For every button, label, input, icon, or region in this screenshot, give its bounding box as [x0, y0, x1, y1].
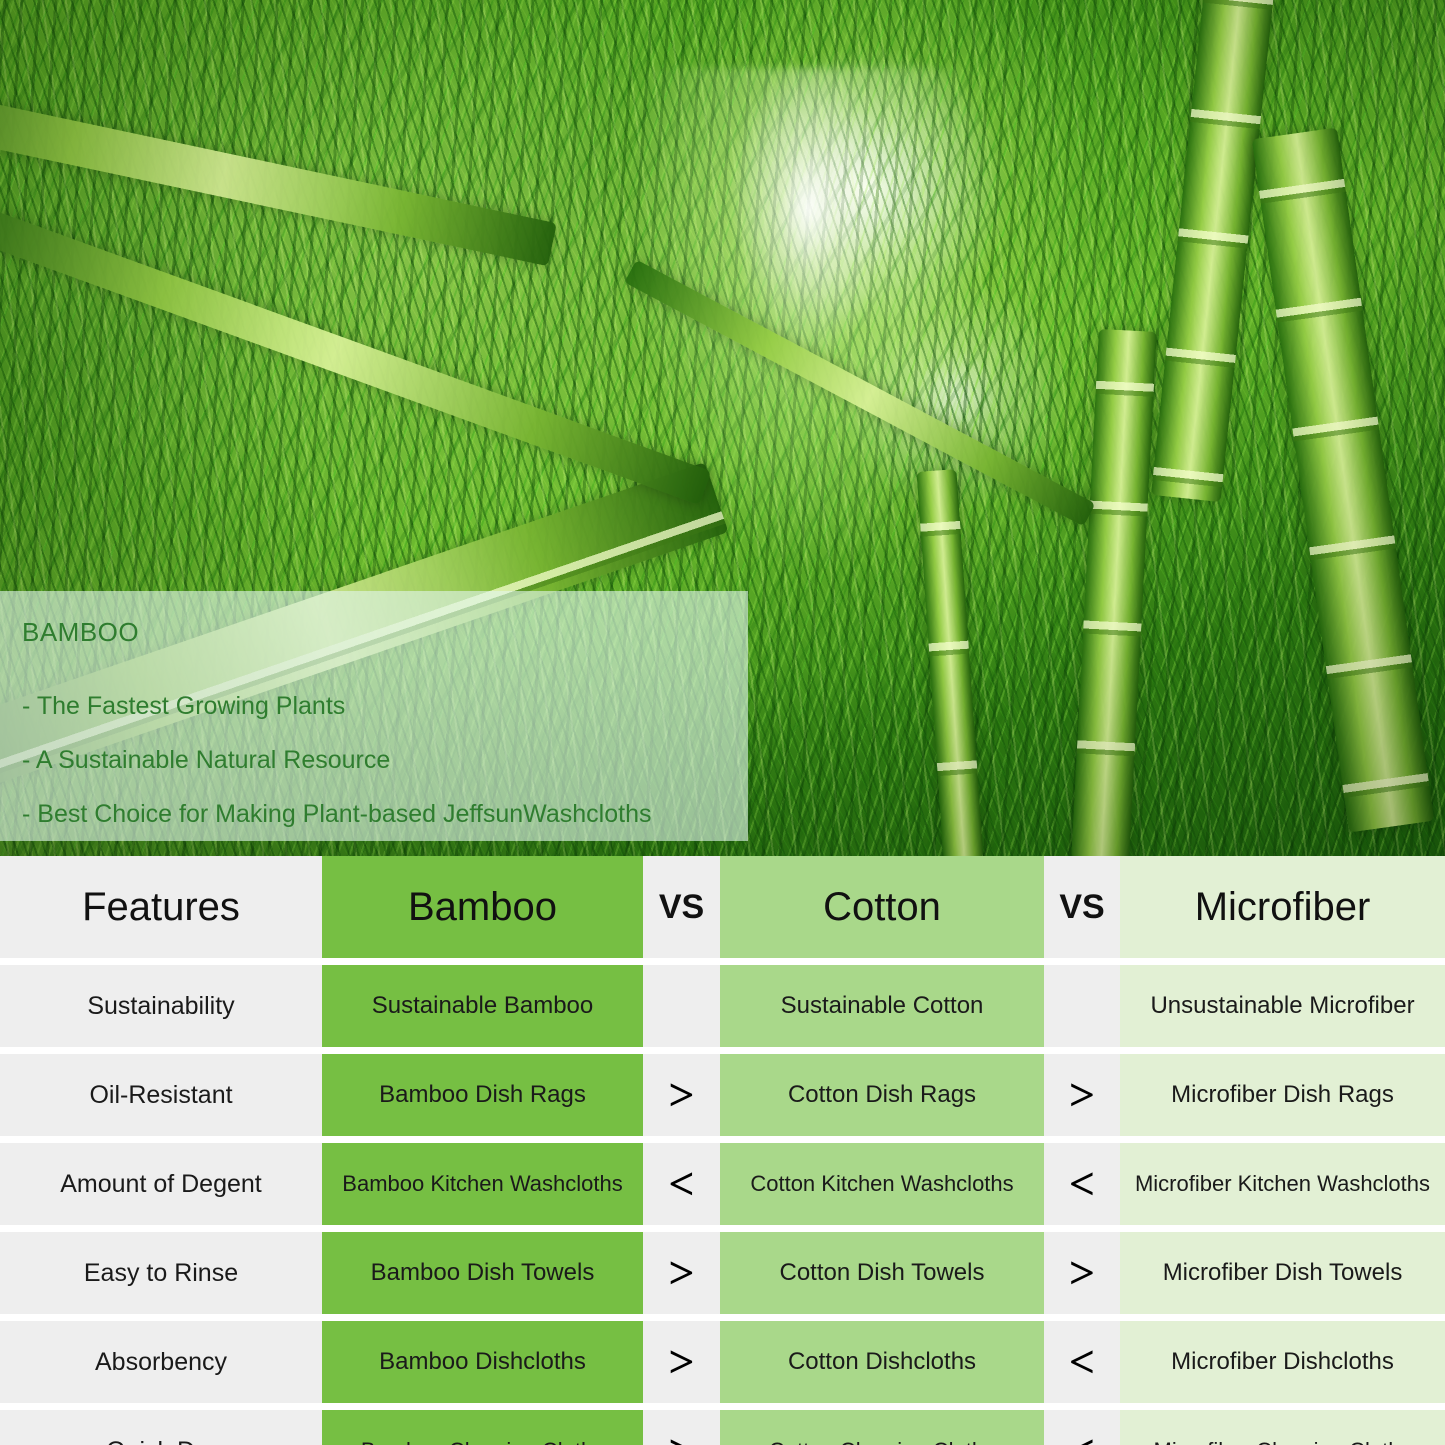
bamboo-callout-title: BAMBOO	[22, 617, 748, 648]
cell-cotton: Cotton Kitchen Washcloths	[720, 1143, 1044, 1225]
cell-bamboo: Bamboo Dish Rags	[322, 1054, 643, 1136]
row-label: Oil-Resistant	[0, 1054, 322, 1136]
header-cell-microfiber: Microfiber	[1120, 856, 1445, 958]
table-header-row: Features Bamboo VS Cotton VS Microfiber	[0, 856, 1445, 958]
comparator-icon-1	[643, 965, 720, 1047]
cell-bamboo: Bamboo Cleaning Cloths	[322, 1410, 643, 1445]
comparison-table: Features Bamboo VS Cotton VS Microfiber …	[0, 856, 1445, 1445]
comparator-icon-2: >	[1044, 1054, 1120, 1136]
comparator-icon-2: >	[1044, 1232, 1120, 1314]
table-row: Amount of Degent Bamboo Kitchen Washclot…	[0, 1143, 1445, 1225]
comparator-icon-1: >	[643, 1321, 720, 1403]
cell-bamboo: Sustainable Bamboo	[322, 965, 643, 1047]
cell-microfiber: Microfiber Dish Towels	[1120, 1232, 1445, 1314]
bamboo-callout-panel: BAMBOO - The Fastest Growing Plants - A …	[0, 591, 748, 841]
row-label: Quick Dry	[0, 1410, 322, 1445]
comparator-icon-2: <	[1044, 1143, 1120, 1225]
comparator-icon-2	[1044, 965, 1120, 1047]
header-cell-features: Features	[0, 856, 322, 958]
cell-microfiber: Microfiber Cleaning Cloths	[1120, 1410, 1445, 1445]
comparator-icon-1: >	[643, 1054, 720, 1136]
cell-cotton: Cotton Dish Rags	[720, 1054, 1044, 1136]
cell-bamboo: Bamboo Kitchen Washcloths	[322, 1143, 643, 1225]
row-label: Amount of Degent	[0, 1143, 322, 1225]
comparator-icon-1: >	[643, 1232, 720, 1314]
comparator-icon-2: <	[1044, 1410, 1120, 1445]
table-row: Oil-Resistant Bamboo Dish Rags > Cotton …	[0, 1054, 1445, 1136]
header-cell-bamboo: Bamboo	[322, 856, 643, 958]
cell-bamboo: Bamboo Dishcloths	[322, 1321, 643, 1403]
cell-cotton: Cotton Cleaning Cloths	[720, 1410, 1044, 1445]
cell-microfiber: Microfiber Dish Rags	[1120, 1054, 1445, 1136]
header-cell-cotton: Cotton	[720, 856, 1044, 958]
bamboo-callout-bullet-1: - The Fastest Growing Plants	[22, 692, 748, 721]
table-row: Sustainability Sustainable Bamboo Sustai…	[0, 965, 1445, 1047]
comparator-icon-1: >	[643, 1410, 720, 1445]
table-row: Quick Dry Bamboo Cleaning Cloths > Cotto…	[0, 1410, 1445, 1445]
table-row: Absorbency Bamboo Dishcloths > Cotton Di…	[0, 1321, 1445, 1403]
row-label: Sustainability	[0, 965, 322, 1047]
header-cell-vs-1: VS	[643, 856, 720, 958]
cell-microfiber: Unsustainable Microfiber	[1120, 965, 1445, 1047]
row-label: Absorbency	[0, 1321, 322, 1403]
cell-cotton: Cotton Dish Towels	[720, 1232, 1044, 1314]
bamboo-callout-bullet-2: - A Sustainable Natural Resource	[22, 746, 748, 775]
comparator-icon-2: <	[1044, 1321, 1120, 1403]
row-label: Easy to Rinse	[0, 1232, 322, 1314]
cell-cotton: Sustainable Cotton	[720, 965, 1044, 1047]
product-infographic-page: BAMBOO - The Fastest Growing Plants - A …	[0, 0, 1445, 1445]
header-cell-vs-2: VS	[1044, 856, 1120, 958]
cell-bamboo: Bamboo Dish Towels	[322, 1232, 643, 1314]
cell-microfiber: Microfiber Kitchen Washcloths	[1120, 1143, 1445, 1225]
bamboo-callout-bullet-3: - Best Choice for Making Plant-based Jef…	[22, 800, 748, 829]
table-row: Easy to Rinse Bamboo Dish Towels > Cotto…	[0, 1232, 1445, 1314]
comparator-icon-1: <	[643, 1143, 720, 1225]
cell-cotton: Cotton Dishcloths	[720, 1321, 1044, 1403]
cell-microfiber: Microfiber Dishcloths	[1120, 1321, 1445, 1403]
